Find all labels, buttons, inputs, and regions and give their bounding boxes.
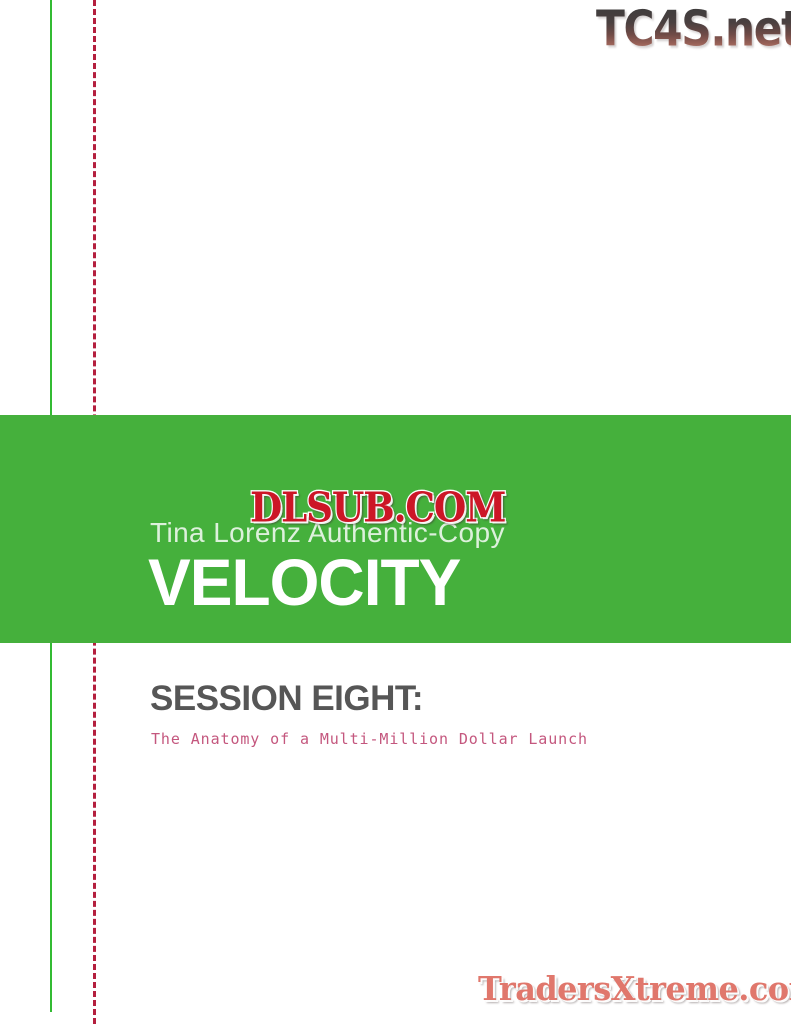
watermark-top-right: TC4S.net xyxy=(596,4,791,53)
document-page: TC4S.net Tina Lorenz Authentic-Copy VELO… xyxy=(0,0,791,1024)
watermark-center: DLSUB.COM xyxy=(250,487,505,529)
session-subtitle: The Anatomy of a Multi-Million Dollar La… xyxy=(151,730,588,748)
session-heading: SESSION EIGHT: xyxy=(150,679,423,719)
page-title: VELOCITY xyxy=(148,549,460,615)
watermark-bottom-right: TradersXtreme.com xyxy=(478,972,791,1005)
